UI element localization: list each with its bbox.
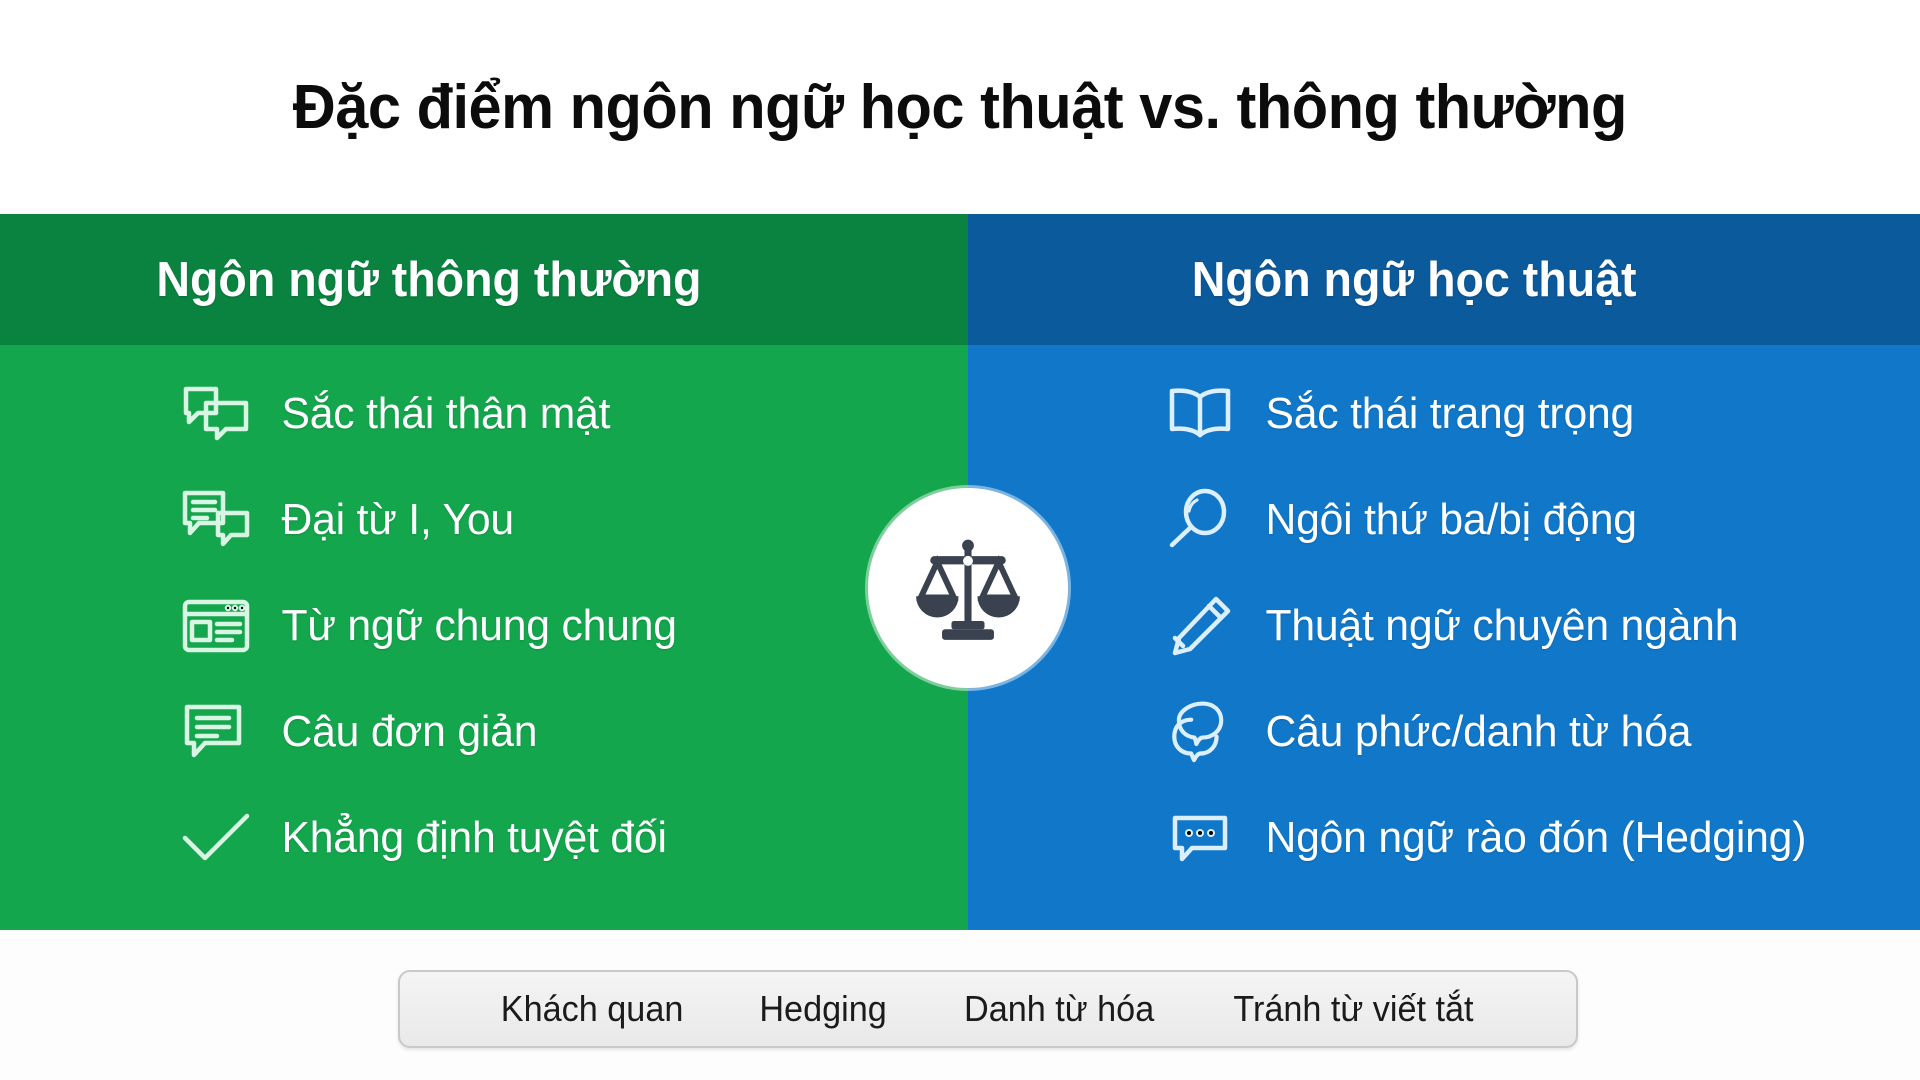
tag-chip[interactable]: Tránh từ viết tắt (1233, 988, 1473, 1030)
tag-chip[interactable]: Danh từ hóa (964, 988, 1154, 1030)
tag-chip[interactable]: Hedging (760, 988, 887, 1030)
panel-header-academic: Ngôn ngữ học thuật (968, 214, 1920, 345)
tag-chip[interactable]: Khách quan (501, 988, 684, 1030)
list-item: Ngôn ngữ rào đón (Hedging) (0, 785, 1920, 891)
list-item-label: Thuật ngữ chuyên ngành (1248, 601, 1738, 651)
balance-scales-icon (909, 529, 1027, 647)
linked-bubbles-icon (1152, 695, 1248, 769)
list-item-label: Sắc thái trang trọng (1248, 389, 1634, 439)
list-item: Sắc thái trang trọng (0, 361, 1920, 467)
panel-academic-language: Ngôn ngữ học thuật Sắc thái trang trọng (968, 214, 1920, 930)
title-bar: Đặc điểm ngôn ngữ học thuật vs. thông th… (0, 0, 1920, 214)
list-item-label: Câu phức/danh từ hóa (1248, 707, 1691, 757)
list-item: Câu phức/danh từ hóa (0, 679, 1920, 785)
balance-badge (868, 488, 1068, 688)
list-item-label: Ngôn ngữ rào đón (Hedging) (1248, 813, 1806, 863)
page-title: Đặc điểm ngôn ngữ học thuật vs. thông th… (293, 72, 1627, 143)
infographic-canvas: Đặc điểm ngôn ngữ học thuật vs. thông th… (0, 0, 1920, 1080)
list-item-label: Ngôi thứ ba/bị động (1248, 495, 1637, 545)
panel-heading-everyday: Ngôn ngữ thông thường (156, 252, 701, 308)
pencil-icon (1152, 589, 1248, 663)
panel-header-everyday: Ngôn ngữ thông thường (0, 214, 968, 345)
panel-heading-academic: Ngôn ngữ học thuật (1192, 252, 1637, 308)
academic-feature-list: Sắc thái trang trọng Ngôi thứ ba/bị động (968, 345, 1920, 891)
magnifier-icon (1152, 483, 1248, 557)
open-book-icon (1152, 377, 1248, 451)
tags-bar[interactable]: Khách quan Hedging Danh từ hóa Tránh từ … (398, 970, 1578, 1048)
ellipsis-bubble-icon (1152, 801, 1248, 875)
